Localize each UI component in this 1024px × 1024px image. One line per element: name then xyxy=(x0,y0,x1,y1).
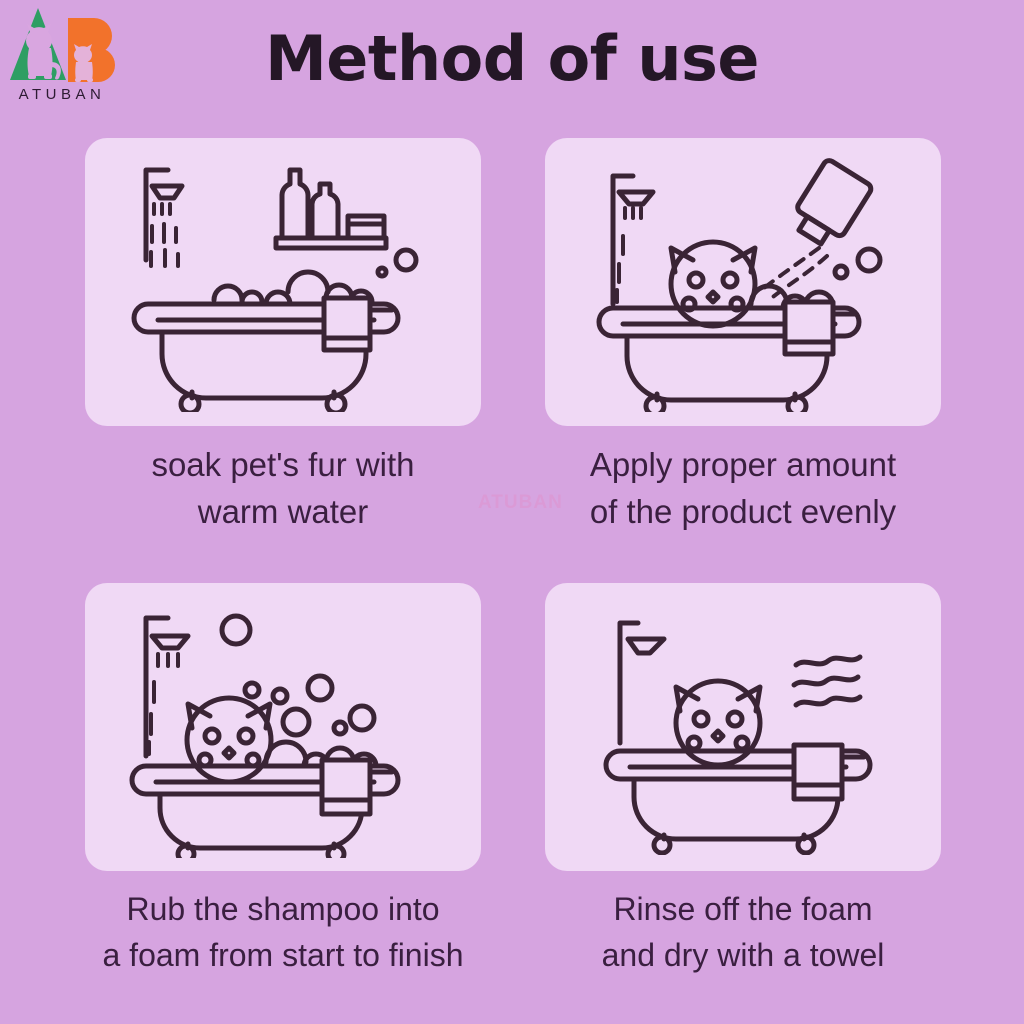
step-3-caption: Rub the shampoo into a foam from start t… xyxy=(55,887,511,978)
step-2: Apply proper amount of the product evenl… xyxy=(545,138,941,575)
page-title: Method of use xyxy=(0,22,1024,95)
bathtub-cat-shampoo-bottle-pouring-icon xyxy=(583,152,903,412)
step-2-caption: Apply proper amount of the product evenl… xyxy=(545,442,941,536)
steps-grid: soak pet's fur with warm water xyxy=(85,138,941,1018)
step-3: Rub the shampoo into a foam from start t… xyxy=(85,583,481,1018)
step-1-caption: soak pet's fur with warm water xyxy=(85,442,481,536)
step-4: Rinse off the foam and dry with a towel xyxy=(545,583,941,1018)
step-2-illustration-panel xyxy=(545,138,941,426)
step-1: soak pet's fur with warm water xyxy=(85,138,481,575)
step-1-illustration-panel xyxy=(85,138,481,426)
step-3-illustration-panel xyxy=(85,583,481,871)
bathtub-cat-foam-bubbles-icon xyxy=(118,596,448,858)
step-4-caption: Rinse off the foam and dry with a towel xyxy=(541,887,945,978)
bathtub-shower-shelf-bottles-bubbles-icon xyxy=(118,152,448,412)
bathtub-cat-clean-steam-waves-icon xyxy=(588,599,898,855)
step-4-illustration-panel xyxy=(545,583,941,871)
